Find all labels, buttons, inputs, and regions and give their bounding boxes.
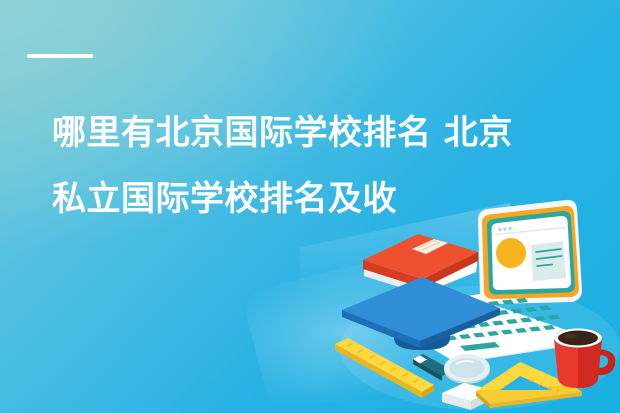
title-line-1: 哪里有北京国际学校排名 北京	[52, 100, 572, 166]
screen-avatar-circle	[496, 238, 526, 268]
coffee-surface	[558, 331, 598, 346]
screen-content-card	[531, 241, 566, 281]
study-desk-illustration	[330, 198, 620, 413]
banner-image: 哪里有北京国际学校排名 北京 私立国际学校排名及收	[0, 0, 620, 413]
decorative-dash	[27, 54, 93, 58]
